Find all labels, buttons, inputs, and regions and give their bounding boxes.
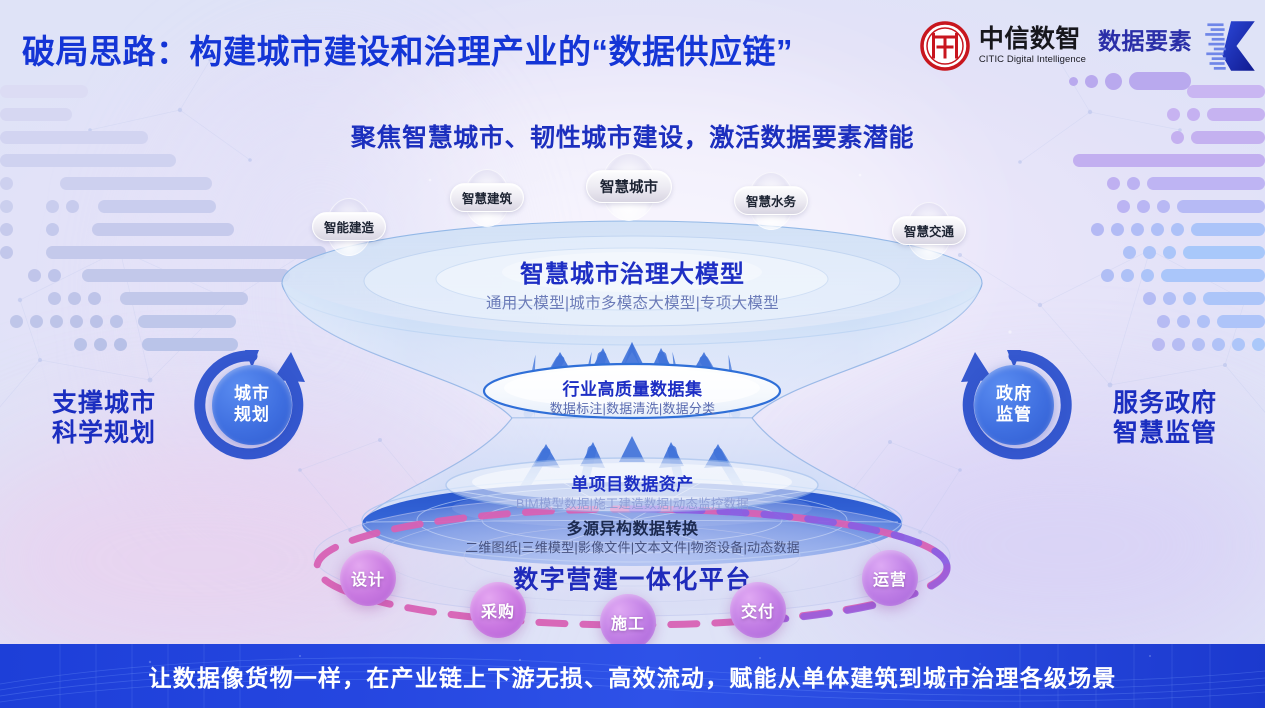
asset-layer-title: 单项目数据资产: [0, 470, 1265, 495]
scene-bubble-label-0: 智能建造: [312, 212, 386, 241]
brand-name-en: CITIC Digital Intelligence: [979, 54, 1086, 65]
scene-bubble-0[interactable]: 智能建造: [312, 212, 386, 241]
left-cycle-line2: 规划: [234, 405, 270, 426]
right-cycle-badge[interactable]: 政府 监管: [955, 346, 1073, 464]
platform-layer-title: 数字营建一体化平台: [0, 560, 1265, 596]
stage-bubble-4[interactable]: 运营: [862, 550, 918, 606]
stage-bubble-label-4: 运营: [873, 566, 907, 590]
dataset-layer-items: 数据标注|数据清洗|数据分类: [0, 398, 1265, 417]
scene-bubble-3[interactable]: 智慧水务: [734, 186, 808, 215]
model-layer-items: 通用大模型|城市多模态大模型|专项大模型: [0, 291, 1265, 313]
convert-layer-title: 多源异构数据转换: [0, 515, 1265, 539]
slide-header: 破局思路：构建城市建设和治理产业的“数据供应链” 中信数智 CITIC Digi…: [0, 0, 1265, 92]
page-title: 破局思路：构建城市建设和治理产业的“数据供应链”: [22, 25, 793, 73]
bottom-banner: 让数据像货物一样，在产业链上下游无损、高效流动，赋能从单体建筑到城市治理各级场景: [0, 644, 1265, 708]
scene-bubble-2[interactable]: 智慧城市: [586, 170, 672, 203]
brand-decor-dots: [1069, 72, 1191, 90]
left-cycle-badge[interactable]: 城市 规划: [193, 346, 311, 464]
slide-canvas: 破局思路：构建城市建设和治理产业的“数据供应链” 中信数智 CITIC Digi…: [0, 0, 1265, 708]
scene-bubble-label-3: 智慧水务: [734, 186, 808, 215]
left-cycle-core: 城市 规划: [212, 365, 292, 445]
stage-bubble-label-1: 采购: [481, 598, 515, 622]
left-caption-line1: 支撑城市: [52, 388, 156, 418]
left-cycle-line1: 城市: [234, 384, 270, 405]
right-cycle-line1: 政府: [996, 384, 1032, 405]
stage-bubble-2[interactable]: 施工: [600, 594, 656, 650]
scene-bubble-1[interactable]: 智慧建筑: [450, 183, 524, 212]
stage-bubble-label-2: 施工: [611, 610, 645, 634]
right-caption-line2: 智慧监管: [1113, 418, 1217, 448]
stage-bubble-3[interactable]: 交付: [730, 582, 786, 638]
asset-layer-items: BIM模型数据|施工建造数据|动态监控数据: [0, 493, 1265, 512]
scene-bubble-label-1: 智慧建筑: [450, 183, 524, 212]
brand-name-block: 中信数智 CITIC Digital Intelligence: [979, 27, 1086, 65]
citic-seal-icon: [920, 21, 970, 71]
right-caption: 服务政府 智慧监管: [1113, 388, 1217, 448]
left-caption-line2: 科学规划: [52, 418, 156, 448]
brand-subtitle-cn: 数据要素: [1098, 22, 1192, 56]
scene-bubble-label-4: 智慧交通: [892, 216, 966, 245]
right-cycle-line2: 监管: [996, 405, 1032, 426]
banner-text: 让数据像货物一样，在产业链上下游无损、高效流动，赋能从单体建筑到城市治理各级场景: [149, 659, 1117, 693]
stage-bubble-1[interactable]: 采购: [470, 582, 526, 638]
stage-bubble-label-0: 设计: [351, 566, 385, 590]
right-cycle-core: 政府 监管: [974, 365, 1054, 445]
scene-bubble-label-2: 智慧城市: [586, 170, 672, 203]
stage-bubble-label-3: 交付: [741, 598, 775, 622]
brand-name-cn: 中信数智: [979, 27, 1081, 53]
right-caption-line1: 服务政府: [1113, 388, 1217, 418]
left-caption: 支撑城市 科学规划: [52, 388, 156, 448]
dataset-layer-title: 行业高质量数据集: [0, 375, 1265, 400]
x-mark-icon: [1203, 18, 1257, 74]
model-layer-title: 智慧城市治理大模型: [0, 254, 1265, 289]
stage-bubble-0[interactable]: 设计: [340, 550, 396, 606]
slide-subtitle: 聚焦智慧城市、韧性城市建设，激活数据要素潜能: [0, 118, 1265, 154]
convert-layer-items: 二维图纸|三维模型|影像文件|文本文件|物资设备|动态数据: [0, 537, 1265, 556]
brand-lockup: 中信数智 CITIC Digital Intelligence 数据要素: [920, 18, 1257, 74]
scene-bubble-4[interactable]: 智慧交通: [892, 216, 966, 245]
